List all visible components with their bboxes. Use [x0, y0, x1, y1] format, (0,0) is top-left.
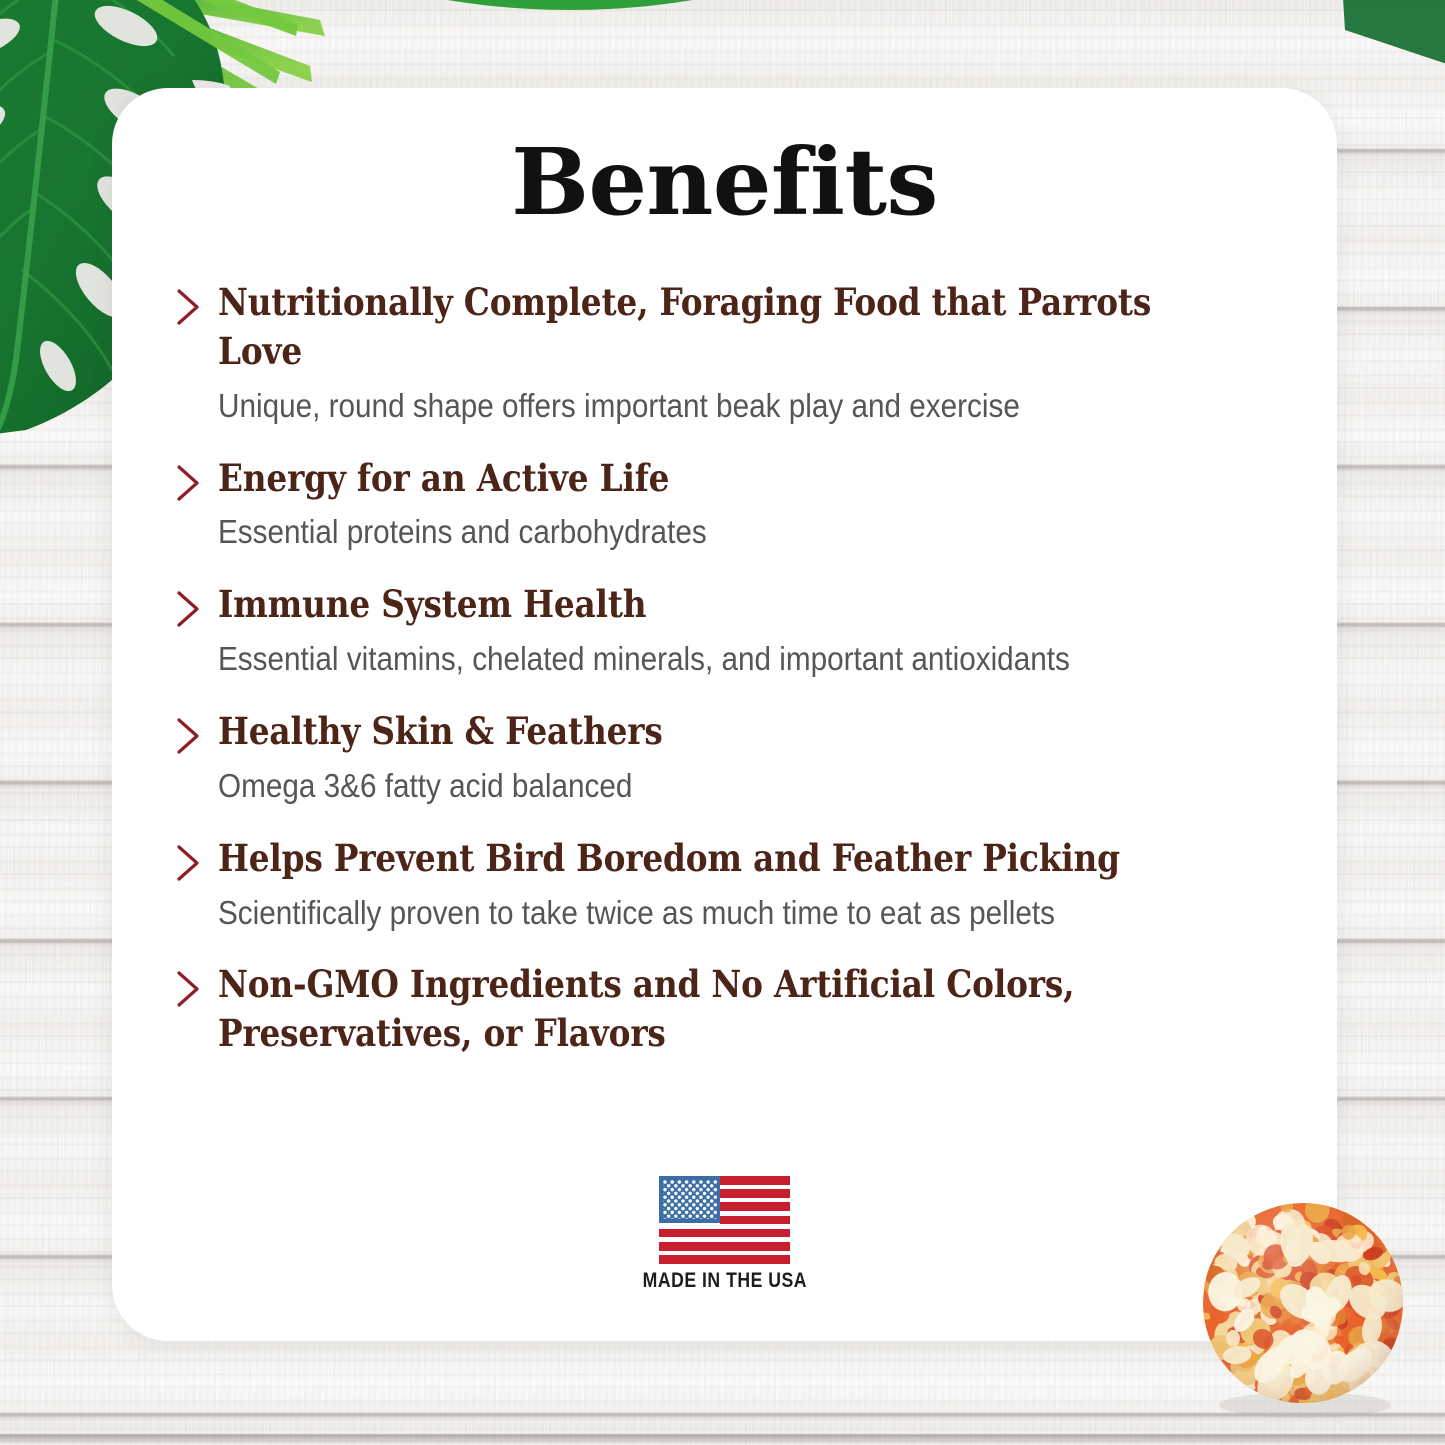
made-in-usa-badge: MADE IN THE USA: [112, 1176, 1337, 1293]
benefit-item: Immune System Health Essential vitamins,…: [174, 580, 1297, 681]
benefit-item: Energy for an Active Life Essential prot…: [174, 454, 1297, 555]
made-in-usa-label: MADE IN THE USA: [642, 1269, 806, 1293]
benefits-card: Benefits Nutritionally Complete, Foragin…: [112, 88, 1337, 1341]
us-flag-icon: [659, 1176, 790, 1260]
benefit-item: Nutritionally Complete, Foraging Food th…: [174, 278, 1297, 428]
benefit-title: Helps Prevent Bird Boredom and Feather P…: [218, 834, 1173, 883]
chevron-right-icon: [174, 454, 218, 502]
chevron-right-icon: [174, 960, 218, 1008]
benefit-subtitle: Omega 3&6 fatty acid balanced: [218, 765, 1189, 808]
benefit-title: Healthy Skin & Feathers: [218, 707, 1173, 756]
benefits-list: Nutritionally Complete, Foraging Food th…: [174, 278, 1297, 1058]
benefit-subtitle: Scientifically proven to take twice as m…: [218, 892, 1189, 935]
benefit-subtitle: Essential proteins and carbohydrates: [218, 511, 1189, 554]
benefit-title: Nutritionally Complete, Foraging Food th…: [218, 278, 1173, 376]
chevron-right-icon: [174, 278, 218, 326]
benefit-item: Healthy Skin & Feathers Omega 3&6 fatty …: [174, 707, 1297, 808]
chevron-right-icon: [174, 580, 218, 628]
benefit-subtitle: Essential vitamins, chelated minerals, a…: [218, 638, 1189, 681]
benefit-subtitle: Unique, round shape offers important bea…: [218, 385, 1189, 428]
benefit-item: Non-GMO Ingredients and No Artificial Co…: [174, 960, 1297, 1058]
page-title: Benefits: [112, 136, 1337, 228]
chevron-right-icon: [174, 834, 218, 882]
benefit-title: Energy for an Active Life: [218, 454, 1173, 503]
benefit-title: Immune System Health: [218, 580, 1173, 629]
benefit-item: Helps Prevent Bird Boredom and Feather P…: [174, 834, 1297, 935]
chevron-right-icon: [174, 707, 218, 755]
product-benefits-infographic: Benefits Nutritionally Complete, Foragin…: [0, 0, 1445, 1445]
benefit-title: Non-GMO Ingredients and No Artificial Co…: [218, 960, 1173, 1058]
